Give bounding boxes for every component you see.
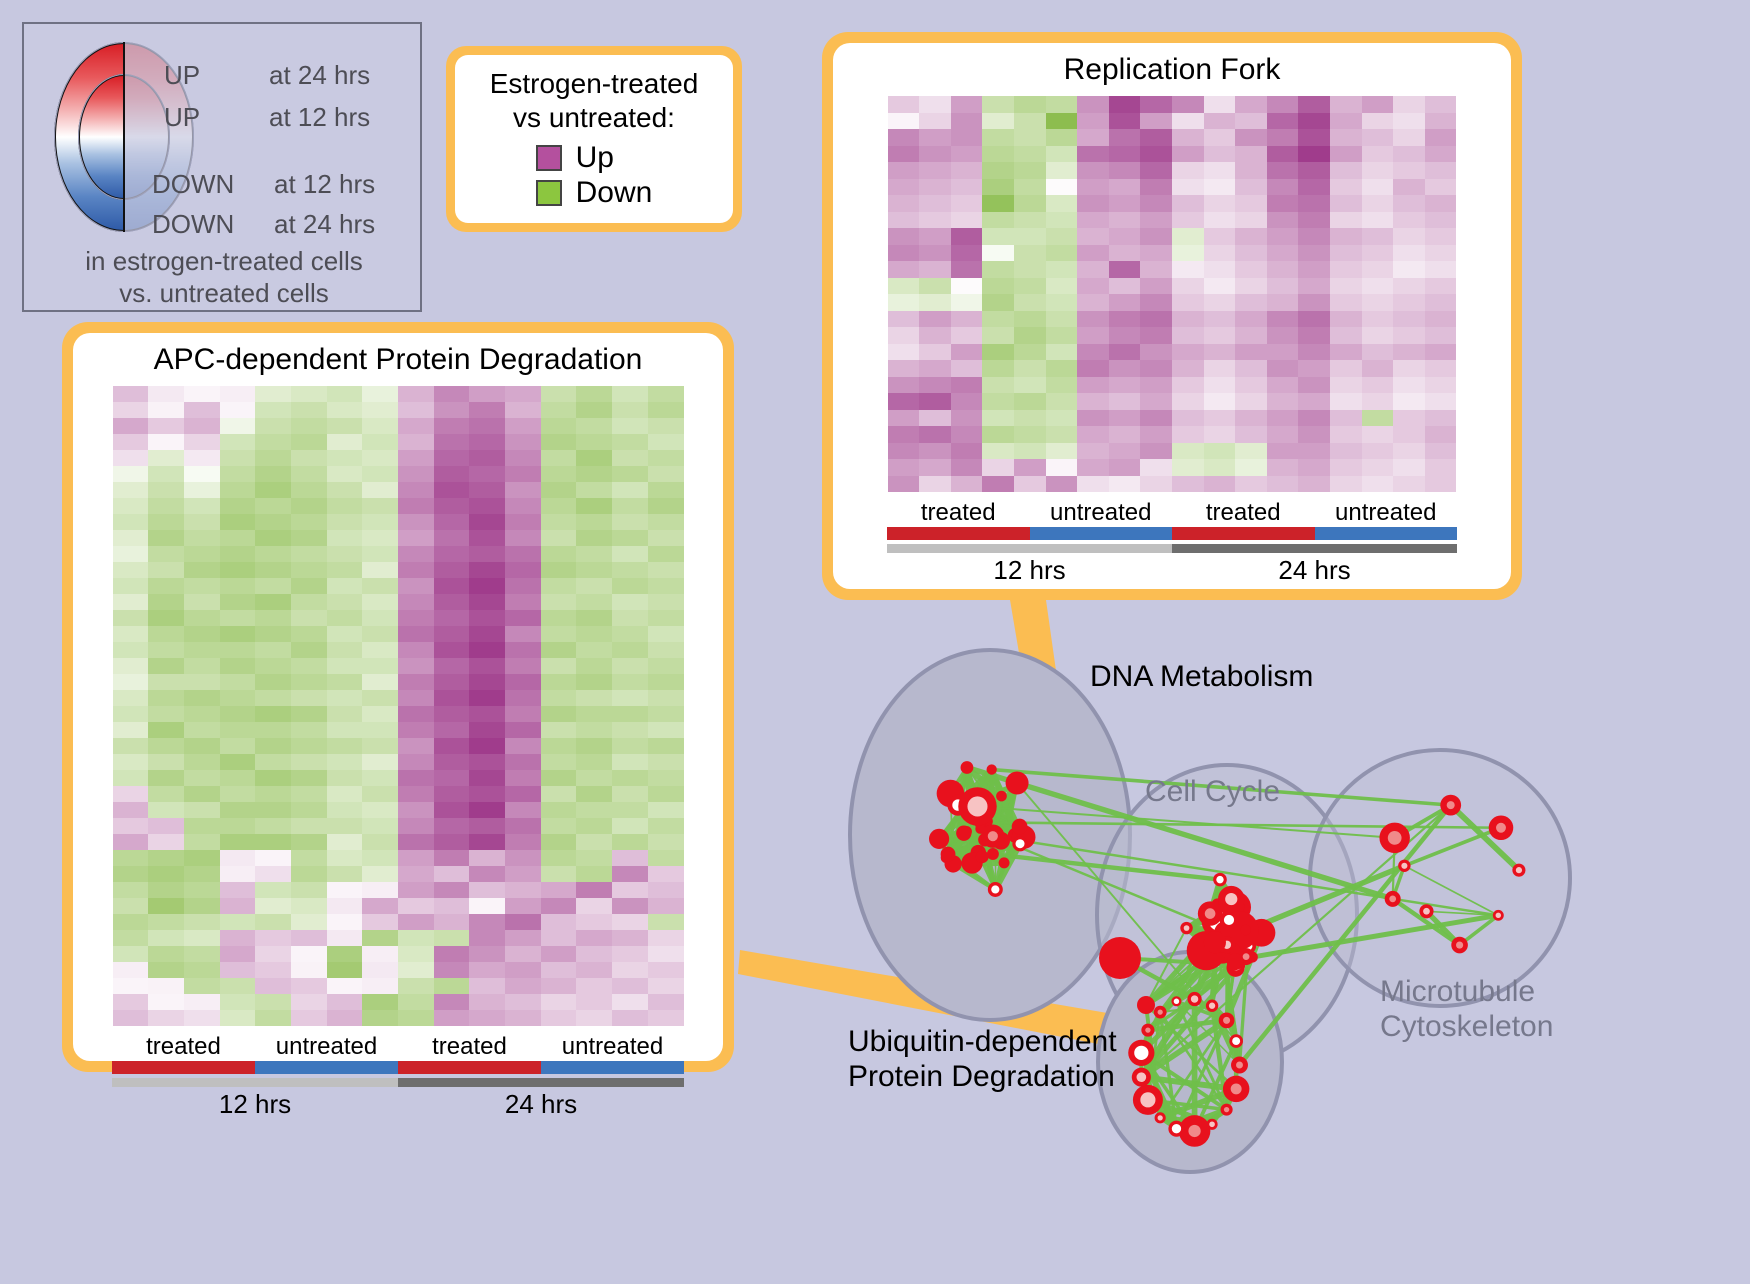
network-node[interactable] (1171, 996, 1181, 1006)
heatmap-cell (1014, 212, 1046, 229)
heatmap-cell (648, 754, 684, 770)
network-node[interactable] (1213, 873, 1227, 887)
heatmap-cell (505, 818, 541, 834)
heatmap-cell (648, 914, 684, 930)
heatmap-cell (327, 946, 363, 962)
network-node[interactable] (1012, 836, 1027, 851)
heatmap-cell (1393, 311, 1425, 328)
network-node[interactable] (996, 791, 1007, 802)
heatmap-cell (648, 866, 684, 882)
heatmap-cell (362, 690, 398, 706)
heatmap-cell (951, 327, 983, 344)
heatmap-cell (1235, 459, 1267, 476)
heatmap-cell (576, 482, 612, 498)
heatmap-cell (1362, 377, 1394, 394)
heatmap-cell (1330, 228, 1362, 245)
network-node[interactable] (1440, 795, 1461, 816)
heatmap-cell (1014, 245, 1046, 262)
heatmap-cell (148, 1010, 184, 1026)
heatmap-cell (1046, 459, 1078, 476)
heatmap-cell (291, 530, 327, 546)
node-outer-disc (1227, 953, 1244, 970)
network-node[interactable] (1385, 891, 1401, 907)
heatmap-cell (1204, 426, 1236, 443)
node-inner-disc (1496, 913, 1501, 918)
heatmap-cell (398, 546, 434, 562)
heatmap-cell (291, 386, 327, 402)
node-inner-disc (1209, 1003, 1215, 1009)
network-node[interactable] (1379, 823, 1409, 853)
heatmap-cell (148, 482, 184, 498)
heatmap-cell (1172, 311, 1204, 328)
heatmap-cell (434, 738, 470, 754)
network-node[interactable] (1099, 937, 1141, 979)
heatmap-cell (1330, 129, 1362, 146)
heatmap-cell (576, 754, 612, 770)
heatmap-cell (113, 658, 149, 674)
heatmap-cell (184, 546, 220, 562)
heatmap-cell (327, 754, 363, 770)
heatmap-cell (148, 674, 184, 690)
heatmap-cell (255, 514, 291, 530)
network-node[interactable] (1219, 1012, 1235, 1028)
heatmap-cell (1393, 393, 1425, 410)
heatmap-cell (113, 978, 149, 994)
heatmap-cell (1140, 410, 1172, 427)
network-node[interactable] (1006, 772, 1029, 795)
heatmap-cell (113, 866, 149, 882)
network-node[interactable] (1204, 931, 1226, 953)
heatmap-cell (434, 914, 470, 930)
network-node[interactable] (1489, 815, 1514, 840)
heatmap-cell (1014, 443, 1046, 460)
heatmap-cell (1172, 245, 1204, 262)
heatmap-cell (434, 754, 470, 770)
heatmap-cell (648, 802, 684, 818)
heatmap-cell (648, 978, 684, 994)
heatmap-cell (255, 722, 291, 738)
heatmap-cell (255, 818, 291, 834)
network-node[interactable] (1419, 904, 1433, 918)
legend-state-1: UP (164, 102, 200, 133)
heatmap-cell (398, 434, 434, 450)
heatmap-cell (291, 738, 327, 754)
heatmap-cell (1172, 476, 1204, 493)
heatmap-cell (255, 994, 291, 1010)
heatmap-cell (220, 690, 256, 706)
heatmap-cell (1077, 96, 1109, 113)
heatmap-cell (612, 770, 648, 786)
heatmap-cell (1425, 212, 1457, 229)
heatmap-cell (541, 498, 577, 514)
heatmap-cell (648, 930, 684, 946)
heatmap-cell (1393, 195, 1425, 212)
node-inner-disc (1388, 831, 1402, 845)
expression-circle-legend: UP at 24 hrs UP at 12 hrs DOWN at 12 hrs… (22, 22, 422, 312)
heatmap-cell (434, 562, 470, 578)
heatmap-cell (291, 674, 327, 690)
heatmap-cell (148, 914, 184, 930)
heatmap-cell (951, 377, 983, 394)
heatmap-cell (184, 994, 220, 1010)
node-inner-disc (1209, 1121, 1215, 1127)
heatmap-cell (1109, 162, 1141, 179)
heatmap-cell (1077, 393, 1109, 410)
heatmap-cell (327, 450, 363, 466)
heatmap-cell (1109, 96, 1141, 113)
heatmap-cell (327, 930, 363, 946)
heatmap-cell (919, 113, 951, 130)
heatmap-cell (1109, 360, 1141, 377)
heatmap-cell (398, 946, 434, 962)
heatmap-cell (469, 994, 505, 1010)
heatmap-cell (612, 818, 648, 834)
panel-replication-fork[interactable]: Replication Fork treated untreated treat… (822, 32, 1522, 600)
network-node[interactable] (987, 764, 997, 774)
heatmap-cell (1109, 294, 1141, 311)
heatmap-cell (148, 514, 184, 530)
heatmap-cell (919, 195, 951, 212)
cluster-label-ubiquitin-line2: Protein Degradation (848, 1060, 1117, 1095)
heatmap-cell (1425, 195, 1457, 212)
cluster-label-microtubule-line2: Cytoskeleton (1380, 1010, 1553, 1045)
network-node[interactable] (1137, 996, 1155, 1014)
heatmap-cell (255, 610, 291, 626)
heatmap-cell (255, 786, 291, 802)
network-node[interactable] (1141, 1024, 1154, 1037)
heatmap-cell (1109, 195, 1141, 212)
network-node[interactable] (987, 848, 999, 860)
heatmap-cell (220, 546, 256, 562)
time-label-24hrs: 24 hrs (1172, 555, 1457, 586)
heatmap-cell (505, 690, 541, 706)
heatmap-cell (184, 610, 220, 626)
node-inner-disc (1456, 941, 1463, 948)
node-inner-disc (1447, 801, 1455, 809)
network-node[interactable] (1155, 1112, 1166, 1123)
network-node[interactable] (1398, 860, 1410, 872)
heatmap-cell (951, 294, 983, 311)
heatmap-cell (362, 978, 398, 994)
heatmap-cell (1204, 393, 1236, 410)
network-node[interactable] (958, 787, 996, 825)
heatmap-cell (291, 818, 327, 834)
heatmap-cell (291, 754, 327, 770)
heatmap-cell (148, 562, 184, 578)
network-node[interactable] (1227, 953, 1244, 970)
heatmap-cell (505, 978, 541, 994)
heatmap-cell (469, 498, 505, 514)
heatmap-cell (148, 962, 184, 978)
heatmap-cell (576, 434, 612, 450)
heatmap-cell (982, 443, 1014, 460)
heatmap-cell (1267, 344, 1299, 361)
heatmap-cell (541, 818, 577, 834)
heatmap-cell (1267, 146, 1299, 163)
node-inner-disc (1389, 895, 1396, 902)
heatmap-cell (1077, 113, 1109, 130)
heatmap-cell (576, 738, 612, 754)
network-node[interactable] (1493, 910, 1504, 921)
heatmap-cell (541, 674, 577, 690)
network-node[interactable] (1154, 1006, 1167, 1019)
heatmap-cell (362, 834, 398, 850)
heatmap-cell (1393, 327, 1425, 344)
network-node[interactable] (999, 857, 1010, 868)
node-inner-disc (1145, 1027, 1150, 1032)
heatmap-cell (505, 530, 541, 546)
legend-state-0: UP (164, 60, 200, 91)
group-label-1: untreated (1030, 499, 1173, 527)
heatmap-cell (1172, 443, 1204, 460)
heatmap-cell (1425, 443, 1457, 460)
heatmap-cell (434, 450, 470, 466)
heatmap-cell (184, 498, 220, 514)
heatmap-cell (434, 994, 470, 1010)
heatmap-cell (220, 418, 256, 434)
heatmap-cell (148, 450, 184, 466)
heatmap-cell (184, 898, 220, 914)
heatmap-cell (576, 818, 612, 834)
heatmap-cell (1204, 96, 1236, 113)
heatmap-cell (648, 722, 684, 738)
network-node[interactable] (981, 825, 1004, 848)
heatmap-cell (576, 450, 612, 466)
heatmap-cell (1267, 278, 1299, 295)
heatmap-cell (541, 530, 577, 546)
heatmap-cell (184, 578, 220, 594)
heatmap-cell (576, 530, 612, 546)
heatmap-cell (184, 914, 220, 930)
heatmap-cell (505, 482, 541, 498)
heatmap-cell (1298, 113, 1330, 130)
group-label-2: treated (1172, 499, 1315, 527)
heatmap-cell (612, 594, 648, 610)
heatmap-cell (291, 562, 327, 578)
heatmap-cell (541, 562, 577, 578)
heatmap-cell (1425, 344, 1457, 361)
heatmap-cell (1267, 245, 1299, 262)
network-node[interactable] (941, 847, 956, 862)
heatmap-cell (1330, 162, 1362, 179)
heatmap-cell (951, 311, 983, 328)
heatmap-cell (1330, 426, 1362, 443)
heatmap-cell (1298, 294, 1330, 311)
legend-state-3: DOWN (152, 209, 234, 240)
heatmap-cell (1298, 377, 1330, 394)
heatmap-cell (1393, 162, 1425, 179)
heatmap-cell (434, 530, 470, 546)
heatmap-cell (1046, 261, 1078, 278)
heatmap-cell (327, 578, 363, 594)
heatmap-cell (113, 994, 149, 1010)
node-outer-disc (961, 761, 974, 774)
heatmap-cell (148, 546, 184, 562)
panel-replication-fork-inner: Replication Fork treated untreated treat… (833, 43, 1511, 589)
network-node[interactable] (1187, 992, 1201, 1006)
network-node[interactable] (988, 882, 1003, 897)
heatmap-cell (255, 466, 291, 482)
node-inner-disc (1016, 839, 1025, 848)
legend-state-2: DOWN (152, 169, 234, 200)
heatmap-cell (1046, 228, 1078, 245)
heatmap-cell (919, 278, 951, 295)
network-node[interactable] (1180, 922, 1192, 934)
heatmap-cell (576, 498, 612, 514)
heatmap-cell (612, 722, 648, 738)
heatmap-cell (327, 978, 363, 994)
heatmap-cell (362, 850, 398, 866)
network-svg (790, 610, 1750, 1279)
network-node[interactable] (1229, 1034, 1243, 1048)
updown-legend-title: Estrogen-treated vs untreated: (490, 67, 699, 133)
network-node[interactable] (1231, 1057, 1248, 1074)
heatmap-cell (888, 360, 920, 377)
heatmap-cell (434, 850, 470, 866)
network-node[interactable] (976, 850, 989, 863)
heatmap-cell (469, 450, 505, 466)
heatmap-cell (113, 754, 149, 770)
heatmap-cell (1362, 113, 1394, 130)
heatmap-cell (113, 498, 149, 514)
network-node[interactable] (1451, 937, 1468, 954)
network-node[interactable] (1012, 819, 1028, 835)
heatmap-cell (1235, 377, 1267, 394)
node-inner-disc (1184, 925, 1190, 931)
heatmap-cell (184, 386, 220, 402)
network-node[interactable] (1198, 901, 1222, 925)
heatmap-cell (576, 402, 612, 418)
heatmap-cell (327, 802, 363, 818)
heatmap-cell (1393, 278, 1425, 295)
heatmap-cell (327, 738, 363, 754)
heatmap-cell (255, 802, 291, 818)
heatmap-cell (648, 818, 684, 834)
network-node[interactable] (1220, 911, 1239, 930)
heatmap-cell (184, 514, 220, 530)
network-node[interactable] (1223, 1076, 1249, 1102)
heatmap-cell (398, 578, 434, 594)
heatmap-cell (220, 450, 256, 466)
heatmap-cell (1298, 476, 1330, 493)
heatmap-cell (612, 914, 648, 930)
heatmap-cell (648, 514, 684, 530)
heatmap-cell (1393, 459, 1425, 476)
heatmap-cell (362, 546, 398, 562)
heatmap-cell (398, 1010, 434, 1026)
heatmap-cell (648, 962, 684, 978)
network-node[interactable] (1240, 925, 1250, 935)
heatmap-cell (505, 866, 541, 882)
heatmap-cell (469, 418, 505, 434)
network-node[interactable] (1206, 1000, 1218, 1012)
heatmap-cell (505, 914, 541, 930)
network-node[interactable] (956, 826, 971, 841)
heatmap-cell (220, 770, 256, 786)
heatmap-cell (255, 546, 291, 562)
heatmap-cell (648, 706, 684, 722)
network-node[interactable] (1133, 1085, 1163, 1115)
network-node[interactable] (1128, 1040, 1154, 1066)
heatmap-cell (291, 898, 327, 914)
heatmap-cell (1362, 245, 1394, 262)
heatmap-cell (612, 546, 648, 562)
heatmap-cell (434, 818, 470, 834)
heatmap-cell (541, 418, 577, 434)
heatmap-cell (1235, 96, 1267, 113)
heatmap-cell (1077, 212, 1109, 229)
heatmap-cell (1014, 261, 1046, 278)
heatmap-cell (1267, 360, 1299, 377)
heatmap-cell (184, 738, 220, 754)
heatmap-cell (291, 722, 327, 738)
heatmap-cell (1235, 327, 1267, 344)
heatmap-cell (648, 578, 684, 594)
heatmap-cell (362, 754, 398, 770)
heatmap-cell (291, 434, 327, 450)
heatmap-cell (888, 377, 920, 394)
heatmap-cell (1140, 245, 1172, 262)
network-node[interactable] (1512, 864, 1525, 877)
heatmap-cell (576, 834, 612, 850)
heatmap-cell (398, 770, 434, 786)
heatmap-cell (1204, 129, 1236, 146)
heatmap-cell (327, 546, 363, 562)
heatmap-cell (1362, 327, 1394, 344)
heatmap-cell (362, 610, 398, 626)
heatmap-cell (434, 594, 470, 610)
heatmap-cell (113, 882, 149, 898)
heatmap-cell (1235, 228, 1267, 245)
heatmap-cell (1077, 410, 1109, 427)
time-labels-replication: 12 hrs 24 hrs (887, 555, 1457, 586)
heatmap-cell (1393, 212, 1425, 229)
heatmap-cell (184, 594, 220, 610)
network-node[interactable] (1168, 1121, 1184, 1137)
heatmap-cell (291, 946, 327, 962)
heatmap-cell (1140, 129, 1172, 146)
network-node[interactable] (1221, 1104, 1233, 1116)
heatmap-cell (576, 578, 612, 594)
network-node[interactable] (961, 761, 974, 774)
heatmap-cell (1140, 195, 1172, 212)
panel-apc-dependent[interactable]: APC-dependent Protein Degradation treate… (62, 322, 734, 1072)
heatmap-cell (327, 818, 363, 834)
heatmap-cell (362, 626, 398, 642)
network-node[interactable] (929, 829, 949, 849)
heatmap-cell (576, 466, 612, 482)
heatmap-cell (1204, 476, 1236, 493)
heatmap-cell (1393, 426, 1425, 443)
heatmap-cell (1109, 426, 1141, 443)
network-node[interactable] (1132, 1068, 1151, 1087)
heatmap-cell (291, 626, 327, 642)
heatmap-cell (1235, 410, 1267, 427)
heatmap-cell (505, 994, 541, 1010)
heatmap-cell (1425, 327, 1457, 344)
heatmap-cell (1014, 360, 1046, 377)
heatmap-cell (648, 594, 684, 610)
heatmap-cell (576, 1010, 612, 1026)
pathway-network-graph[interactable]: DNA Metabolism Cell Cycle Microtubule Cy… (790, 610, 1750, 1279)
heatmap-cell (982, 327, 1014, 344)
heatmap-cell (113, 594, 149, 610)
network-node[interactable] (1218, 886, 1245, 913)
heatmap-cell (469, 866, 505, 882)
heatmap-cell (291, 658, 327, 674)
heatmap-cell (434, 610, 470, 626)
heatmap-cell (1140, 212, 1172, 229)
